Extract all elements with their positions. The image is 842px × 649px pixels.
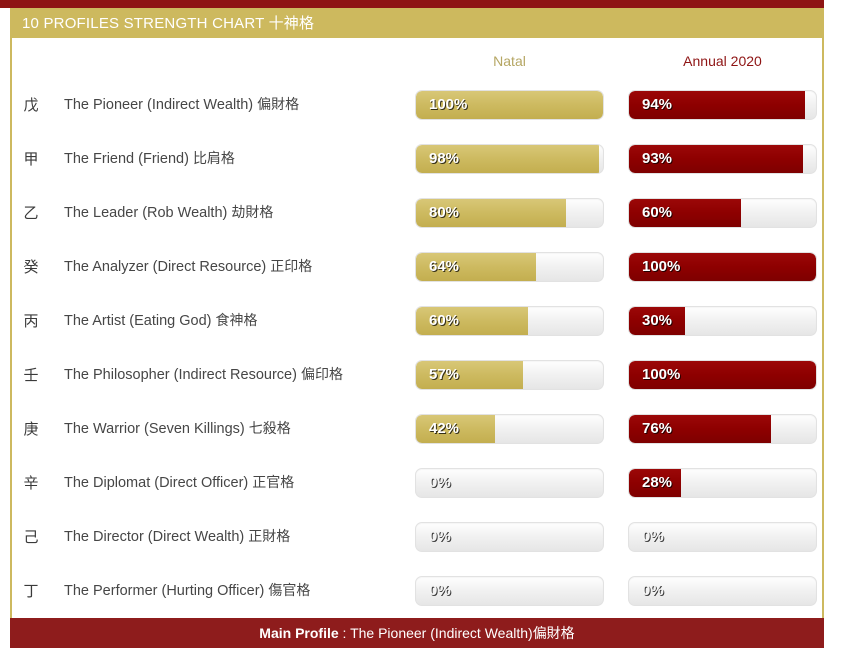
profile-rows: 戊The Pioneer (Indirect Wealth) 偏財格100%94… <box>0 78 842 618</box>
natal-bar: 98% <box>415 144 604 174</box>
profile-name-cn: 比肩格 <box>193 151 235 167</box>
table-row: 壬The Philosopher (Indirect Resource) 偏印格… <box>0 348 842 402</box>
profiles-strength-chart-panel: 10 PROFILES STRENGTH CHART 十神格 Natal Ann… <box>0 0 842 648</box>
annual-bar: 60% <box>628 198 817 228</box>
profile-name-cn: 正財格 <box>248 529 290 545</box>
table-row: 己The Director (Direct Wealth) 正財格0%0% <box>0 510 842 564</box>
profile-label: The Performer (Hurting Officer) 傷官格 <box>64 564 310 618</box>
table-row: 庚The Warrior (Seven Killings) 七殺格42%76% <box>0 402 842 456</box>
natal-bar: 60% <box>415 306 604 336</box>
natal-bar: 0% <box>415 522 604 552</box>
natal-bar: 57% <box>415 360 604 390</box>
profile-name-cn: 傷官格 <box>268 583 310 599</box>
heavenly-stem-glyph: 辛 <box>16 456 46 510</box>
natal-bar: 80% <box>415 198 604 228</box>
profile-name-cn: 偏印格 <box>301 367 343 383</box>
table-row: 乙The Leader (Rob Wealth) 劫財格80%60% <box>0 186 842 240</box>
natal-bar-value: 0% <box>429 468 451 498</box>
profile-label: The Director (Direct Wealth) 正財格 <box>64 510 290 564</box>
table-row: 癸The Analyzer (Direct Resource) 正印格64%10… <box>0 240 842 294</box>
profile-name-cn: 正印格 <box>270 259 312 275</box>
annual-bar: 93% <box>628 144 817 174</box>
table-row: 甲The Friend (Friend) 比肩格98%93% <box>0 132 842 186</box>
natal-bar-value: 100% <box>429 90 467 120</box>
annual-bar-value: 76% <box>642 414 672 444</box>
natal-bar-value: 60% <box>429 306 459 336</box>
column-headings: Natal Annual 2020 <box>0 50 842 72</box>
heavenly-stem-glyph: 癸 <box>16 240 46 294</box>
natal-bar-value: 64% <box>429 252 459 282</box>
panel-title-cn: 十神格 <box>269 14 315 32</box>
profile-label: The Friend (Friend) 比肩格 <box>64 132 235 186</box>
annual-bar: 30% <box>628 306 817 336</box>
table-row: 丁The Performer (Hurting Officer) 傷官格0%0% <box>0 564 842 618</box>
profile-name-en: The Leader (Rob Wealth) <box>64 205 227 221</box>
heavenly-stem-glyph: 壬 <box>16 348 46 402</box>
profile-name-en: The Diplomat (Direct Officer) <box>64 475 248 491</box>
natal-bar-value: 98% <box>429 144 459 174</box>
natal-bar: 64% <box>415 252 604 282</box>
right-gutter <box>824 0 842 648</box>
profile-name-en: The Artist (Eating God) <box>64 313 211 329</box>
panel-title-en: 10 PROFILES STRENGTH CHART <box>22 15 264 32</box>
natal-bar-value: 42% <box>429 414 459 444</box>
profile-label: The Diplomat (Direct Officer) 正官格 <box>64 456 294 510</box>
profile-name-en: The Director (Direct Wealth) <box>64 529 244 545</box>
main-profile-separator: : <box>339 625 350 641</box>
heavenly-stem-glyph: 乙 <box>16 186 46 240</box>
natal-bar-value: 0% <box>429 576 451 606</box>
heavenly-stem-glyph: 己 <box>16 510 46 564</box>
profile-name-en: The Warrior (Seven Killings) <box>64 421 245 437</box>
profile-name-en: The Analyzer (Direct Resource) <box>64 259 266 275</box>
profile-name-en: The Performer (Hurting Officer) <box>64 583 264 599</box>
main-profile-label: Main Profile <box>259 625 338 641</box>
profile-label: The Artist (Eating God) 食神格 <box>64 294 258 348</box>
table-row: 戊The Pioneer (Indirect Wealth) 偏財格100%94… <box>0 78 842 132</box>
heavenly-stem-glyph: 丁 <box>16 564 46 618</box>
profile-name-cn: 七殺格 <box>249 421 291 437</box>
annual-bar-value: 0% <box>642 522 664 552</box>
profile-label: The Warrior (Seven Killings) 七殺格 <box>64 402 291 456</box>
top-accent-strip <box>0 0 828 8</box>
table-row: 辛The Diplomat (Direct Officer) 正官格0%28% <box>0 456 842 510</box>
annual-bar-value: 60% <box>642 198 672 228</box>
annual-bar-value: 30% <box>642 306 672 336</box>
profile-label: The Leader (Rob Wealth) 劫財格 <box>64 186 273 240</box>
panel-title-bar: 10 PROFILES STRENGTH CHART 十神格 <box>10 8 824 38</box>
table-row: 丙The Artist (Eating God) 食神格60%30% <box>0 294 842 348</box>
annual-bar: 28% <box>628 468 817 498</box>
natal-bar-value: 57% <box>429 360 459 390</box>
profile-name-en: The Pioneer (Indirect Wealth) <box>64 97 253 113</box>
annual-bar-value: 28% <box>642 468 672 498</box>
heavenly-stem-glyph: 戊 <box>16 78 46 132</box>
annual-bar: 100% <box>628 252 817 282</box>
annual-bar: 0% <box>628 522 817 552</box>
column-heading-natal: Natal <box>415 50 604 72</box>
profile-name-cn: 正官格 <box>252 475 294 491</box>
profile-name-cn: 劫財格 <box>231 205 273 221</box>
main-profile-footer: Main Profile : The Pioneer (Indirect Wea… <box>10 618 824 648</box>
annual-bar: 76% <box>628 414 817 444</box>
column-heading-annual: Annual 2020 <box>628 50 817 72</box>
heavenly-stem-glyph: 丙 <box>16 294 46 348</box>
annual-bar: 94% <box>628 90 817 120</box>
heavenly-stem-glyph: 庚 <box>16 402 46 456</box>
annual-bar-value: 0% <box>642 576 664 606</box>
annual-bar-value: 94% <box>642 90 672 120</box>
natal-bar-value: 0% <box>429 522 451 552</box>
natal-bar: 0% <box>415 576 604 606</box>
natal-bar: 42% <box>415 414 604 444</box>
main-profile-value-en: The Pioneer (Indirect Wealth) <box>350 625 533 641</box>
heavenly-stem-glyph: 甲 <box>16 132 46 186</box>
profile-name-en: The Friend (Friend) <box>64 151 189 167</box>
natal-bar-value: 80% <box>429 198 459 228</box>
profile-name-cn: 偏財格 <box>257 97 299 113</box>
annual-bar: 0% <box>628 576 817 606</box>
natal-bar: 0% <box>415 468 604 498</box>
annual-bar-value: 100% <box>642 252 680 282</box>
profile-name-en: The Philosopher (Indirect Resource) <box>64 367 297 383</box>
annual-bar: 100% <box>628 360 817 390</box>
main-profile-value-cn: 偏財格 <box>533 626 575 642</box>
profile-label: The Philosopher (Indirect Resource) 偏印格 <box>64 348 343 402</box>
profile-name-cn: 食神格 <box>216 313 258 329</box>
natal-bar: 100% <box>415 90 604 120</box>
annual-bar-value: 93% <box>642 144 672 174</box>
profile-label: The Analyzer (Direct Resource) 正印格 <box>64 240 312 294</box>
profile-label: The Pioneer (Indirect Wealth) 偏財格 <box>64 78 299 132</box>
annual-bar-value: 100% <box>642 360 680 390</box>
